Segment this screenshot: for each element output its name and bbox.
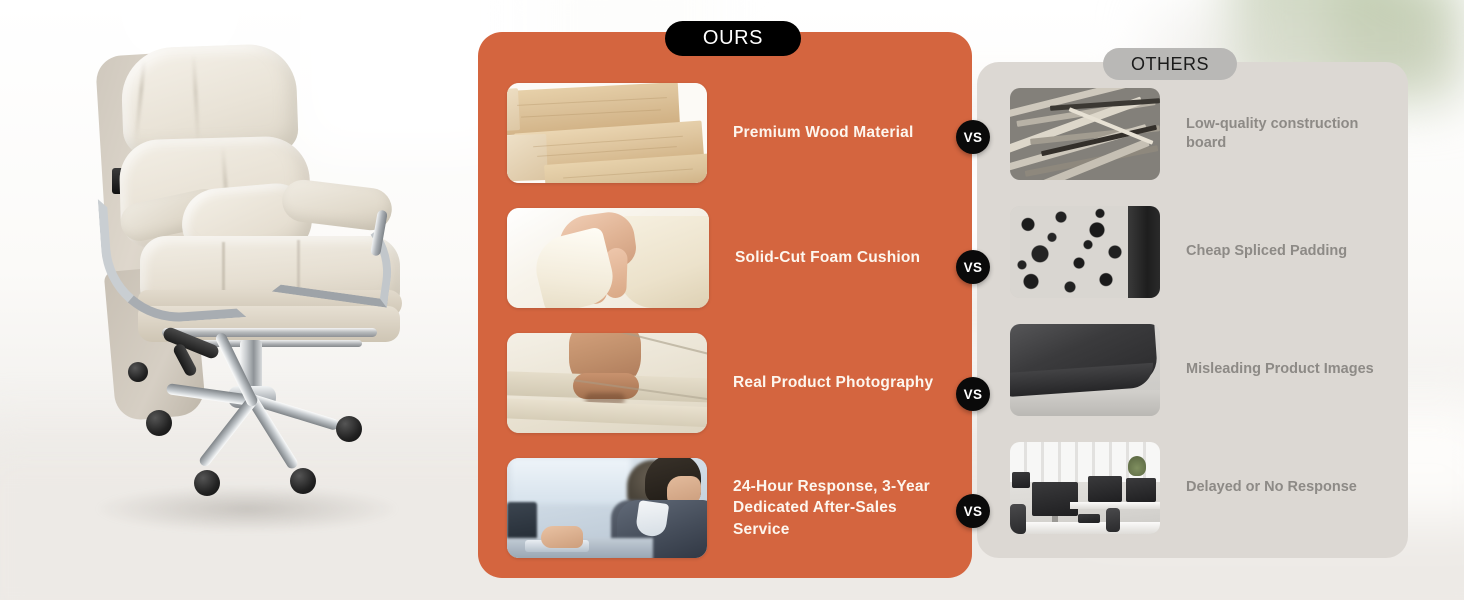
ours-row-real-photography: Real Product Photography — [478, 328, 972, 438]
chair-caster — [290, 468, 316, 494]
comparison-infographic: OTHERS Low-quality construction board — [0, 0, 1464, 600]
others-label: Delayed or No Response — [1186, 478, 1357, 497]
others-label: Low-quality construction board — [1186, 115, 1376, 153]
others-row-delayed-response: Delayed or No Response — [977, 440, 1408, 536]
wood-beams-photo — [507, 83, 707, 183]
customer-service-photo — [507, 458, 707, 558]
ours-label: 24-Hour Response, 3-Year Dedicated After… — [733, 476, 938, 540]
ours-row-foam-cushion: Solid-Cut Foam Cushion — [478, 203, 972, 313]
ours-row-premium-wood: Premium Wood Material — [478, 78, 972, 188]
cushion-press-photo — [507, 333, 707, 433]
foam-cushion-photo — [507, 208, 709, 308]
chair-shadow — [97, 486, 397, 532]
vs-badge: VS — [956, 377, 990, 411]
vs-badge: VS — [956, 120, 990, 154]
empty-office-photo — [1010, 442, 1160, 534]
others-row-misleading-images: Misleading Product Images — [977, 322, 1408, 418]
others-row-spliced-padding: Cheap Spliced Padding — [977, 204, 1408, 300]
chair-caster — [128, 362, 148, 382]
others-label: Misleading Product Images — [1186, 360, 1374, 379]
vs-badge: VS — [956, 250, 990, 284]
scrap-lumber-photo — [1010, 88, 1160, 180]
ours-label: Real Product Photography — [733, 372, 933, 393]
others-row-construction-board: Low-quality construction board — [977, 86, 1408, 182]
product-chair-image — [42, 18, 462, 578]
ours-badge: OURS — [665, 21, 801, 56]
others-label: Cheap Spliced Padding — [1186, 242, 1347, 261]
others-badge: OTHERS — [1103, 48, 1237, 80]
ours-label: Solid-Cut Foam Cushion — [735, 247, 920, 268]
chair-caster — [194, 470, 220, 496]
chair-caster — [146, 410, 172, 436]
vs-badge: VS — [956, 494, 990, 528]
chair-caster — [336, 416, 362, 442]
ours-label: Premium Wood Material — [733, 122, 913, 143]
ours-row-after-sales-service: 24-Hour Response, 3-Year Dedicated After… — [478, 453, 972, 563]
speckled-padding-photo — [1010, 206, 1160, 298]
dark-cushion-photo — [1010, 324, 1160, 416]
